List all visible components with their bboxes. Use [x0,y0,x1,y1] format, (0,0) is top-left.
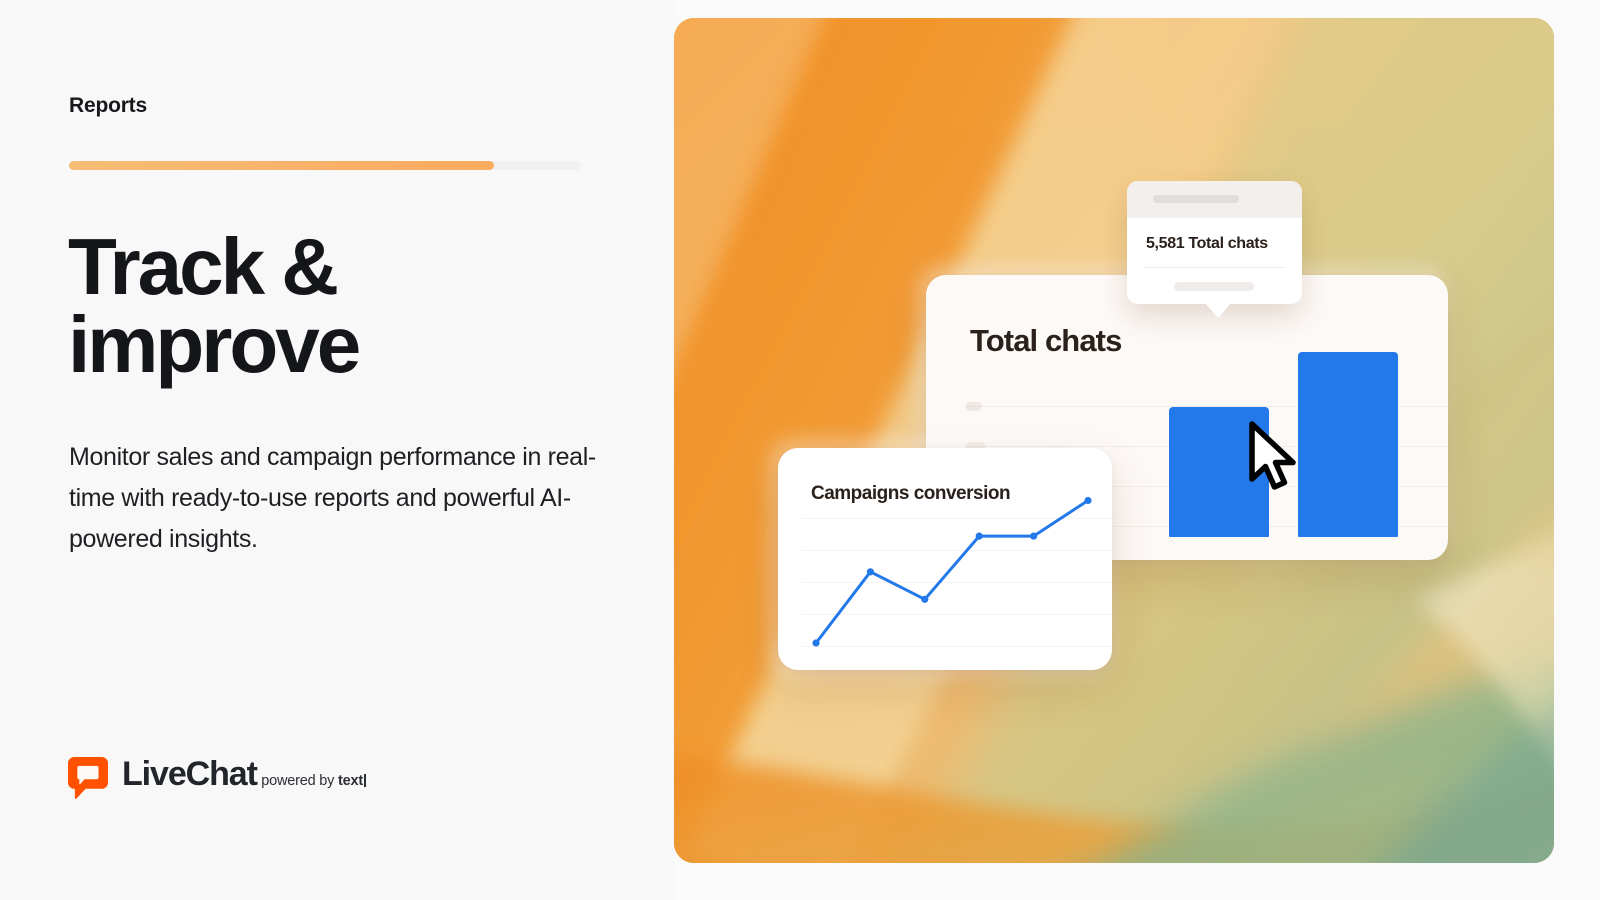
campaigns-conversion-line-chart [778,448,1112,670]
logo-wordmark: LiveChat [122,755,257,793]
page-title: Track & improve [68,228,628,383]
livechat-speech-bubble-icon [68,757,108,799]
line-chart-point[interactable] [1030,533,1037,540]
slide-canvas: Reports Track & improve Monitor sales an… [0,0,1600,900]
line-chart-point[interactable] [921,596,928,603]
mouse-pointer-icon [1246,421,1304,493]
hero-illustration-panel: Total chats 5,581 Total chats [674,18,1554,863]
tooltip-pointer-icon [1205,303,1231,318]
headline-line-2: improve [68,306,628,384]
logo-tagline-prefix: powered by [261,773,338,789]
tooltip-placeholder-top [1153,195,1239,203]
logo-tagline-brand: text [338,773,363,789]
progress-bar-fill [69,161,494,170]
section-eyebrow: Reports [69,94,147,118]
tooltip-divider [1144,267,1285,268]
livechat-logo: LiveChat powered by text [68,757,366,799]
line-chart-point[interactable] [1084,497,1091,504]
left-content-panel: Reports Track & improve Monitor sales an… [0,0,674,900]
tooltip-body: 5,581 Total chats [1127,181,1302,304]
progress-bar-track [69,161,581,170]
tooltip-placeholder-bottom [1174,282,1254,291]
logo-tagline: powered by text [261,773,366,789]
tooltip-value-label: 5,581 Total chats [1146,235,1302,253]
line-chart-point[interactable] [976,533,983,540]
tooltip-header-band [1127,181,1302,218]
subtitle-copy: Monitor sales and campaign performance i… [69,437,614,560]
headline-line-1: Track & [68,222,336,311]
bar-chart-bar[interactable] [1298,352,1398,537]
total-chats-title: Total chats [970,323,1121,359]
logo-text-block: LiveChat powered by text [122,757,366,792]
campaigns-conversion-card[interactable]: Campaigns conversion [778,448,1112,670]
line-chart-point[interactable] [867,568,874,575]
chart-tooltip: 5,581 Total chats [1127,181,1302,304]
y-axis-label-placeholder [966,402,982,411]
line-chart-point[interactable] [812,639,819,646]
text-caret-icon [364,774,366,787]
